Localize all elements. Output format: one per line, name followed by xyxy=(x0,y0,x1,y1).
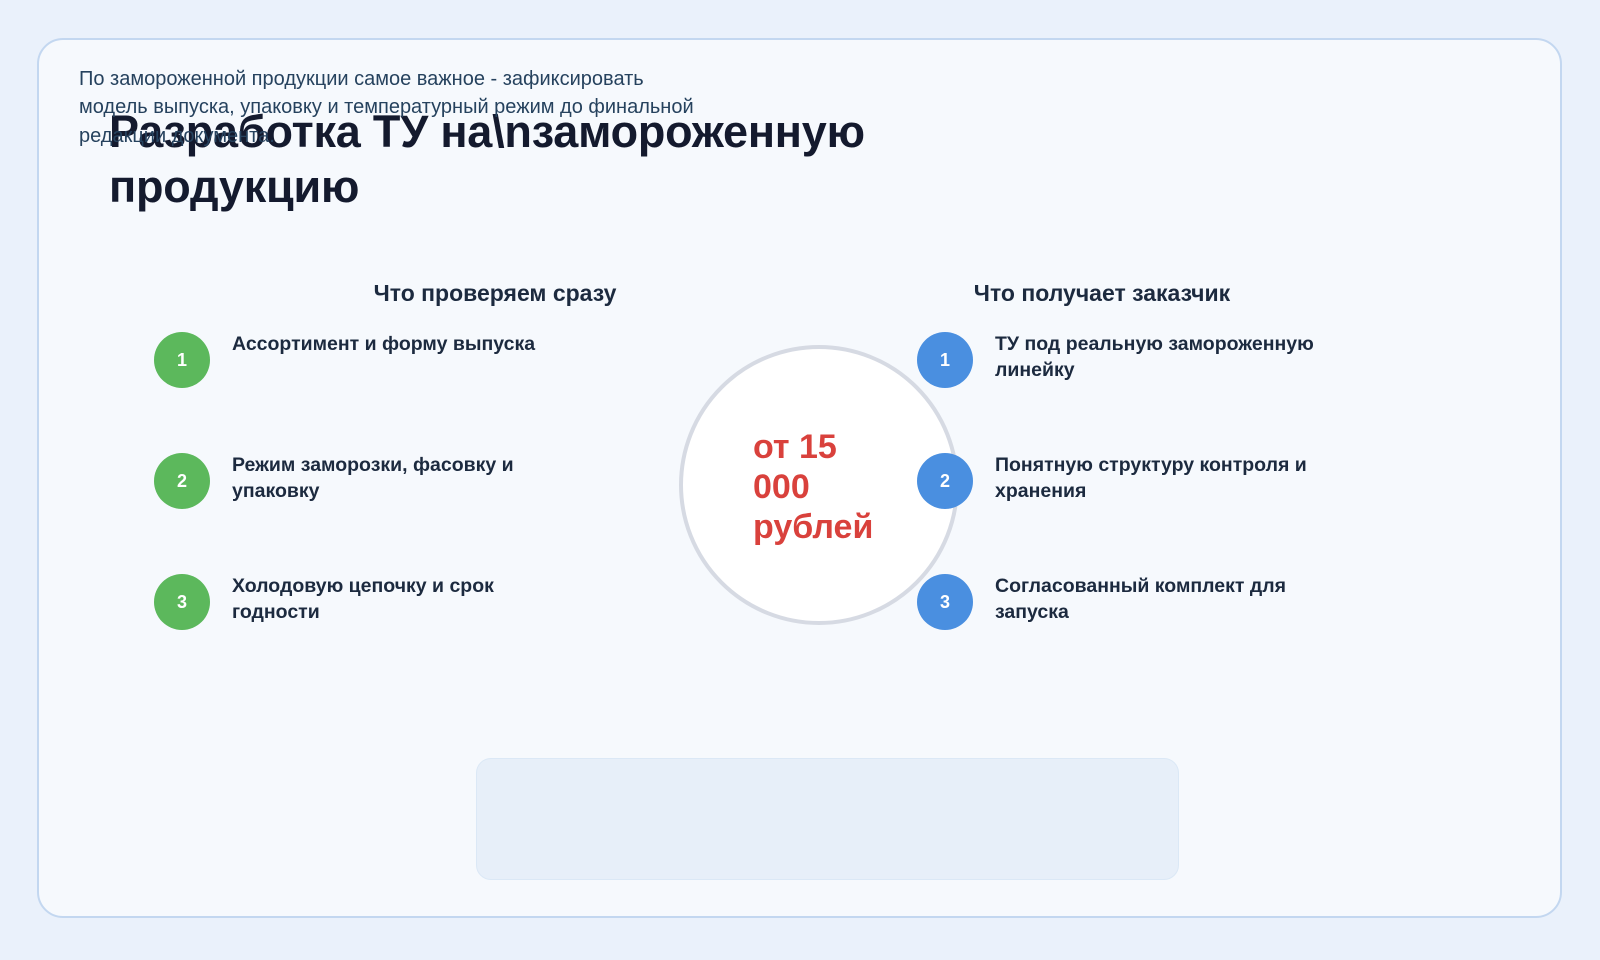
list-item-label: Режим заморозки, фасовку и упаковку xyxy=(232,453,562,505)
left-column-heading: Что проверяем сразу xyxy=(325,280,665,307)
step-badge-3: 3 xyxy=(917,574,973,630)
list-item: 3 Согласованный комплект для запуска xyxy=(917,574,1337,695)
list-item: 1 Ассортимент и форму выпуска xyxy=(154,332,624,453)
list-item-label: Ассортимент и форму выпуска xyxy=(232,332,562,358)
main-card: Разработка ТУ на\nзамороженную продукцию… xyxy=(37,38,1562,918)
list-item: 2 Понятную структуру контроля и хранения xyxy=(917,453,1337,574)
step-badge-1: 1 xyxy=(917,332,973,388)
step-badge-2: 2 xyxy=(154,453,210,509)
left-column-list: 1 Ассортимент и форму выпуска 2 Режим за… xyxy=(154,332,624,695)
list-item: 1 ТУ под реальную замороженную линейку xyxy=(917,332,1337,453)
step-badge-3: 3 xyxy=(154,574,210,630)
list-item-label: Холодовую цепочку и срок годности xyxy=(232,574,562,626)
right-column-heading: Что получает заказчик xyxy=(912,280,1292,307)
note-box xyxy=(476,758,1179,880)
step-badge-2: 2 xyxy=(917,453,973,509)
list-item: 2 Режим заморозки, фасовку и упаковку xyxy=(154,453,624,574)
list-item-label: Понятную структуру контроля и хранения xyxy=(995,453,1325,505)
list-item: 3 Холодовую цепочку и срок годности xyxy=(154,574,624,695)
step-badge-1: 1 xyxy=(154,332,210,388)
price-label: от 15 000 рублей xyxy=(753,427,893,547)
list-item-label: Согласованный комплект для запуска xyxy=(995,574,1325,626)
list-item-label: ТУ под реальную замороженную линейку xyxy=(995,332,1325,384)
note-text: По замороженной продукции самое важное -… xyxy=(79,65,699,150)
right-column-list: 1 ТУ под реальную замороженную линейку 2… xyxy=(917,332,1337,695)
